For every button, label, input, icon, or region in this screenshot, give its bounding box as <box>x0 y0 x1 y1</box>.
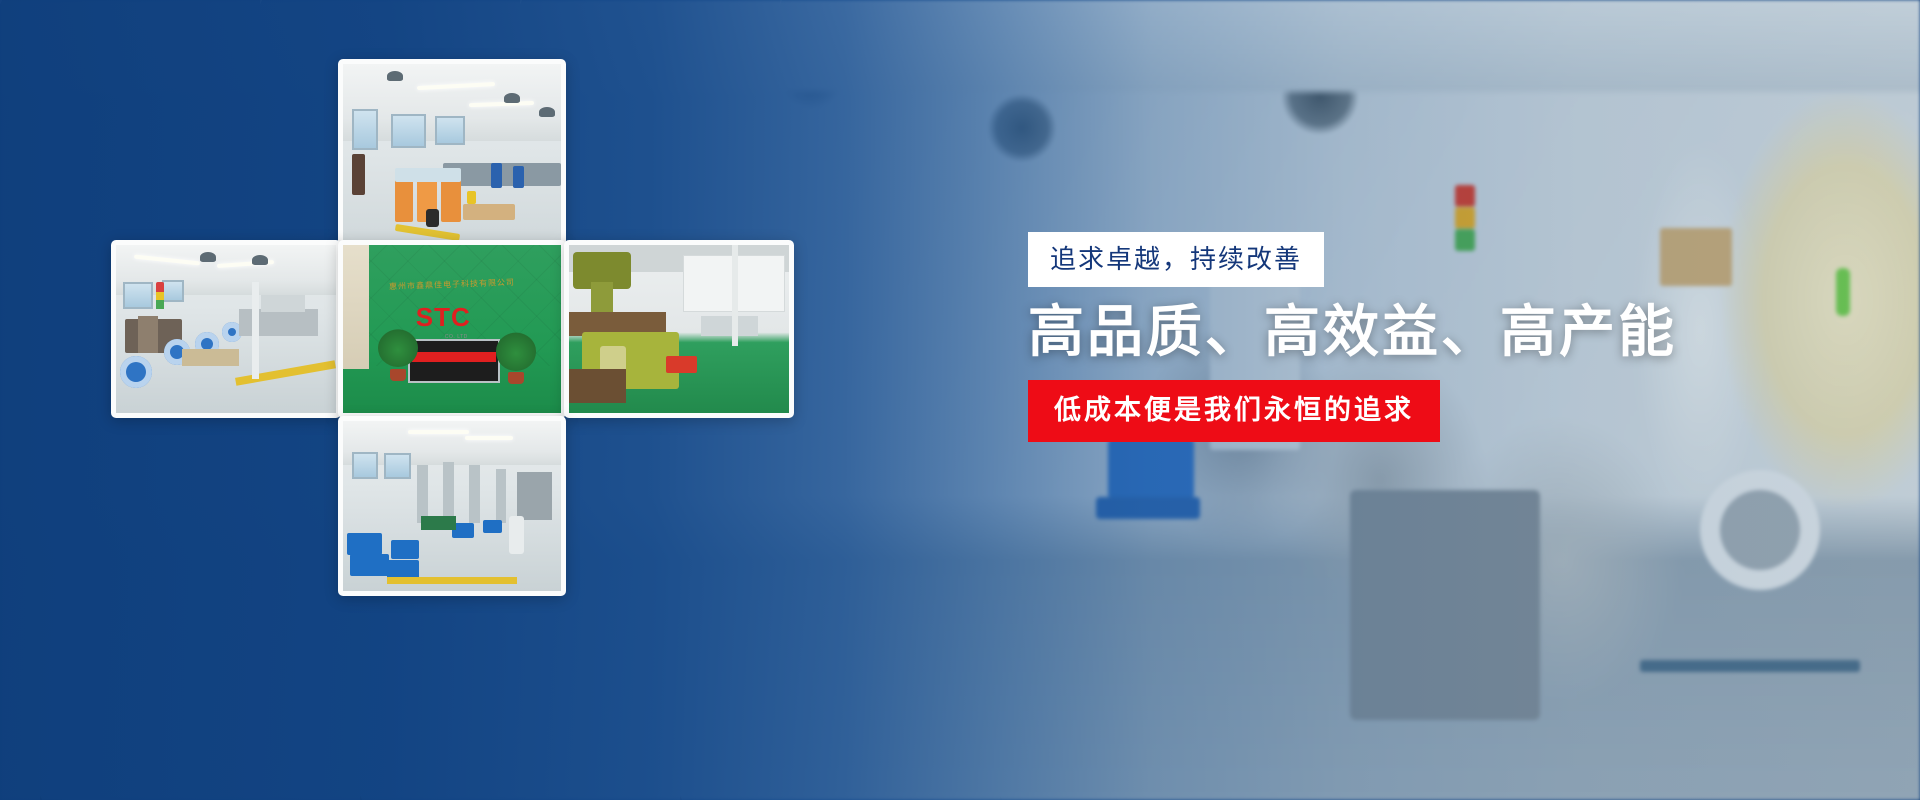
collage-photo-bottom[interactable] <box>338 416 566 596</box>
collage-photo-center-image: 惠州市鑫鼎佳电子科技有限公司 STC CO. LTD <box>343 245 561 413</box>
photo-collage: 惠州市鑫鼎佳电子科技有限公司 STC CO. LTD <box>0 0 820 800</box>
collage-photo-left-image <box>116 245 336 413</box>
collage-photo-bottom-image <box>343 421 561 591</box>
collage-photo-right-image <box>569 245 789 413</box>
reception-plant-left <box>378 329 418 381</box>
collage-photo-left[interactable] <box>111 240 341 418</box>
hero-ribbon: 低成本便是我们永恒的追求 <box>1028 380 1440 442</box>
collage-photo-center[interactable]: 惠州市鑫鼎佳电子科技有限公司 STC CO. LTD <box>338 240 566 418</box>
hero-eyebrow: 追求卓越，持续改善 <box>1028 232 1324 287</box>
collage-photo-right[interactable] <box>564 240 794 418</box>
hero-text-block: 追求卓越，持续改善 高品质、高效益、高产能 低成本便是我们永恒的追求 <box>1028 232 1588 442</box>
reception-plant-right <box>496 332 536 384</box>
hero-headline: 高品质、高效益、高产能 <box>1028 301 1588 364</box>
reception-stc-logo: STC <box>416 302 471 333</box>
reception-desk <box>408 339 500 383</box>
hero-banner: 惠州市鑫鼎佳电子科技有限公司 STC CO. LTD <box>0 0 1920 800</box>
